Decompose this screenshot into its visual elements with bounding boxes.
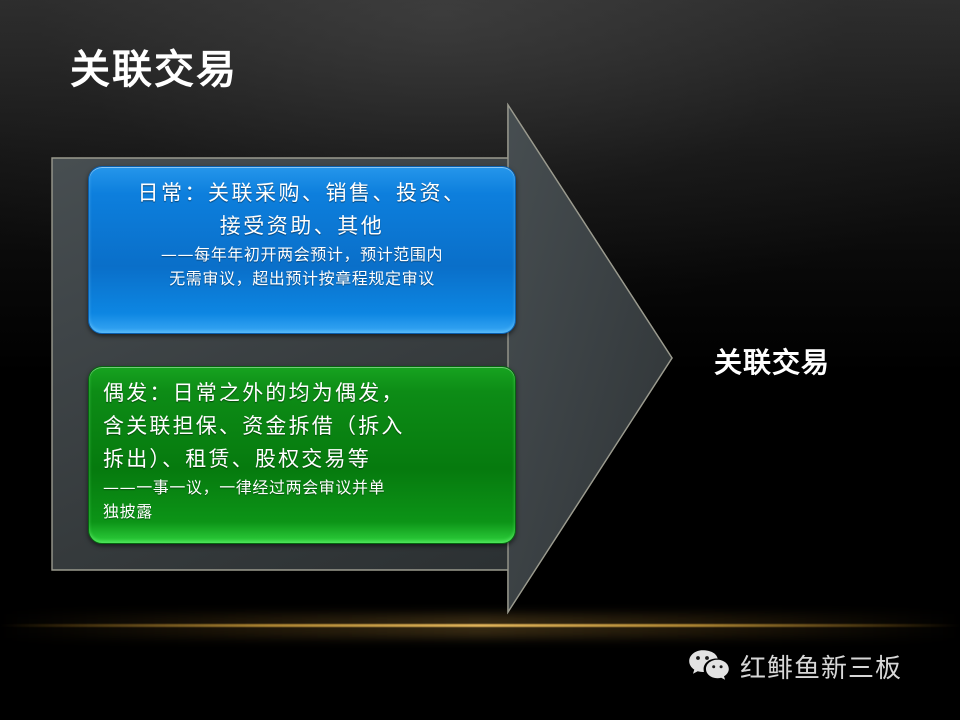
footer-branding: 红鲱鱼新三板 — [688, 648, 902, 685]
page-title: 关联交易 — [70, 44, 238, 96]
occasional-head-line-2: 含关联担保、资金拆借（拆入 — [103, 410, 501, 443]
footer-text: 红鲱鱼新三板 — [740, 648, 902, 685]
slide-canvas: 关联交易 日常：关联采购、销售、投资、 接受资助、其他 ——每年年初开两会预计，… — [0, 0, 960, 720]
daily-head-line-1: 日常：关联采购、销售、投资、 — [103, 177, 501, 210]
occasional-head-line-3: 拆出）、租赁、股权交易等 — [103, 443, 501, 476]
daily-transactions-box[interactable]: 日常：关联采购、销售、投资、 接受资助、其他 ——每年年初开两会预计，预计范围内… — [88, 166, 516, 334]
occasional-sub-line-1: ——一事一议，一律经过两会审议并单 — [103, 476, 501, 500]
occasional-transactions-box[interactable]: 偶发：日常之外的均为偶发， 含关联担保、资金拆借（拆入 拆出）、租赁、股权交易等… — [88, 366, 516, 544]
arrow-result-label: 关联交易 — [714, 341, 830, 381]
wechat-icon — [688, 649, 730, 685]
occasional-sub-line-2: 独披露 — [103, 500, 501, 524]
accent-line — [0, 624, 960, 627]
daily-head-line-2: 接受资助、其他 — [103, 210, 501, 243]
daily-sub-line-1: ——每年年初开两会预计，预计范围内 — [103, 243, 501, 267]
daily-sub-line-2: 无需审议，超出预计按章程规定审议 — [103, 267, 501, 291]
occasional-head-line-1: 偶发：日常之外的均为偶发， — [103, 377, 501, 410]
